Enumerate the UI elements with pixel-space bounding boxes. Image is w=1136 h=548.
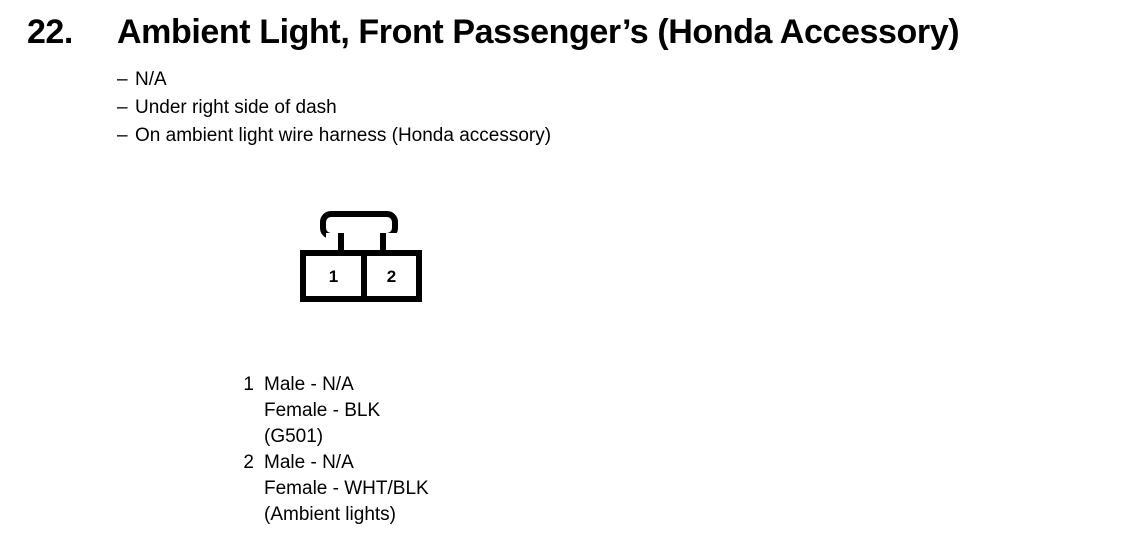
pin-legend-lines: Male - N/A Female - WHT/BLK (Ambient lig… [264, 450, 656, 528]
pin-legend-number: 1 [236, 372, 254, 398]
pin-legend-line: Male - N/A [264, 372, 656, 398]
pin-legend-lines: Male - N/A Female - BLK (G501) [264, 372, 656, 450]
connector-diagram: 1 2 [300, 211, 424, 302]
connector-pin-2: 2 [361, 256, 416, 296]
pin-legend-line: Female - BLK [264, 398, 656, 424]
pin-legend-line: (G501) [264, 424, 656, 450]
list-item-label: N/A [135, 69, 167, 90]
item-header: 22. Ambient Light, Front Passenger’s (Ho… [0, 0, 1136, 56]
pin-legend-line: Female - WHT/BLK [264, 476, 656, 502]
list-item-label: On ambient light wire harness (Honda acc… [135, 125, 551, 146]
pin-legend-line: Male - N/A [264, 450, 656, 476]
list-item: –Under right side of dash [117, 94, 917, 122]
dash-icon: – [117, 94, 135, 122]
dash-icon: – [117, 122, 135, 150]
specification-list: –N/A –Under right side of dash –On ambie… [117, 66, 917, 150]
page-title: Ambient Light, Front Passenger’s (Honda … [117, 14, 959, 50]
pin-legend-entry-2: 2 Male - N/A Female - WHT/BLK (Ambient l… [236, 450, 656, 528]
pin-legend: 1 Male - N/A Female - BLK (G501) 2 Male … [236, 372, 656, 528]
pin-legend-number: 2 [236, 450, 254, 476]
pin-legend-entry-1: 1 Male - N/A Female - BLK (G501) [236, 372, 656, 450]
list-item: –N/A [117, 66, 917, 94]
list-item-label: Under right side of dash [135, 97, 337, 118]
list-item: –On ambient light wire harness (Honda ac… [117, 122, 917, 150]
item-number: 22. [27, 14, 73, 50]
connector-pin-1: 1 [306, 256, 361, 296]
pin-legend-line: (Ambient lights) [264, 502, 656, 528]
dash-icon: – [117, 66, 135, 94]
connector-body: 1 2 [300, 250, 422, 302]
latch-mask-right [385, 233, 398, 241]
